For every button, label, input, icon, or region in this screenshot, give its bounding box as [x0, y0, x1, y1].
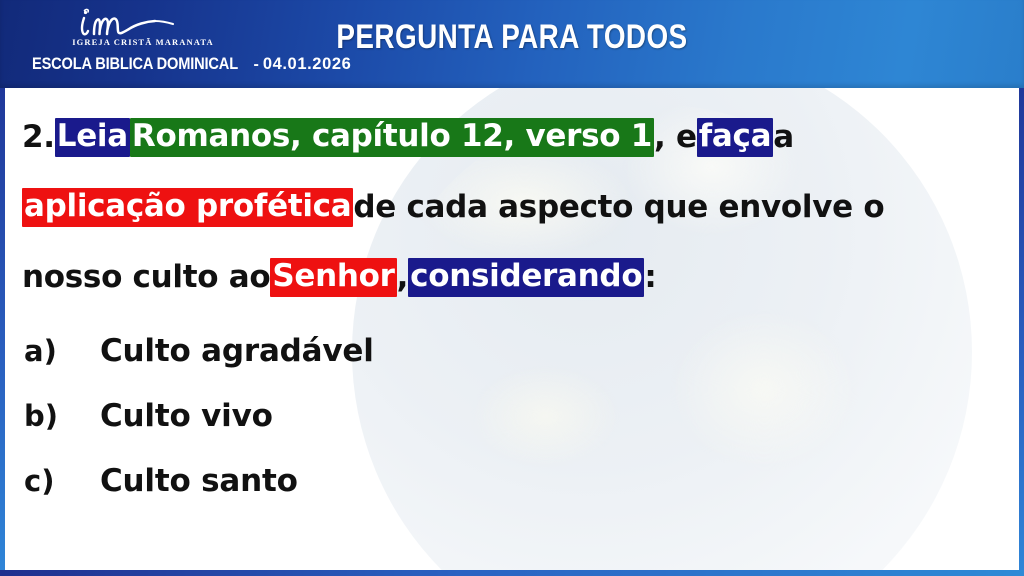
plain-text: :: [644, 262, 656, 293]
page-title: PERGUNTA PARA TODOS: [92, 18, 932, 57]
slide-header: IGREJA CRISTÃ MARANATA ESCOLA BIBLICA DO…: [0, 0, 1024, 88]
brand-subtitle: ESCOLA BIBLICA DOMINICAL: [32, 54, 238, 74]
options-list: a) Culto agradável b) Culto vivo c) Cult…: [22, 318, 1002, 513]
option-row-a[interactable]: a) Culto agradável: [22, 318, 1002, 383]
frame-border-right: [1019, 88, 1024, 576]
brand-separator: -: [253, 56, 258, 74]
highlighted-text-navy: faça: [697, 118, 774, 157]
plain-text: ,: [397, 262, 408, 293]
plain-text: , e: [654, 122, 697, 153]
question-line-3: nosso culto ao Senhor, considerando:: [22, 242, 1002, 312]
highlighted-text-red: aplicação profética: [22, 188, 353, 227]
option-key-c: c): [22, 464, 100, 498]
plain-text: de cada aspecto que envolve o: [353, 192, 884, 223]
option-key-a: a): [22, 334, 100, 368]
slide-body: 2. Leia Romanos, capítulo 12, verso 1, e…: [0, 88, 1024, 513]
plain-text: 2.: [22, 122, 55, 153]
highlighted-text-navy: considerando: [408, 258, 644, 297]
option-key-b: b): [22, 399, 100, 433]
frame-border-left: [0, 88, 5, 576]
option-label-b: Culto vivo: [100, 398, 273, 434]
slide: IGREJA CRISTÃ MARANATA ESCOLA BIBLICA DO…: [0, 0, 1024, 576]
option-label-a: Culto agradável: [100, 333, 374, 369]
option-row-c[interactable]: c) Culto santo: [22, 448, 1002, 513]
question-line-2: aplicação profética de cada aspecto que …: [22, 172, 1002, 242]
brand-subtitle-line: ESCOLA BIBLICA DOMINICAL - 04.01.2026: [32, 54, 302, 74]
option-row-b[interactable]: b) Culto vivo: [22, 383, 1002, 448]
lesson-date: 04.01.2026: [263, 55, 352, 74]
question-line-1: 2. Leia Romanos, capítulo 12, verso 1, e…: [22, 102, 1002, 172]
plain-text: nosso culto ao: [22, 262, 270, 293]
highlighted-text-navy: Leia: [55, 118, 130, 157]
frame-border-bottom: [0, 570, 1024, 576]
option-label-c: Culto santo: [100, 463, 298, 499]
highlighted-text-red: Senhor: [270, 258, 396, 297]
plain-text: a: [773, 122, 794, 153]
highlighted-text-green: Romanos, capítulo 12, verso 1: [130, 118, 654, 157]
